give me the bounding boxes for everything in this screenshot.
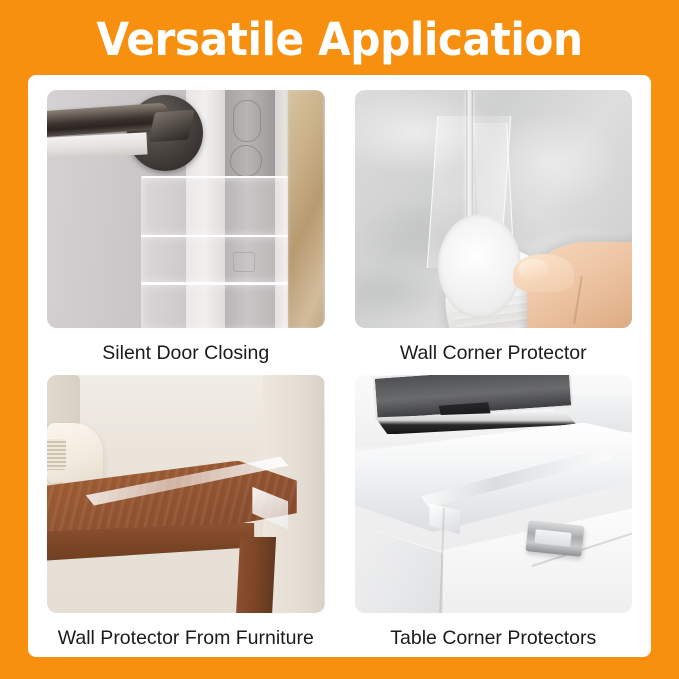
poster: Versatile Application: [0, 0, 679, 679]
content-card: Silent Door Closing: [28, 75, 651, 657]
panel-silent-door-closing: Silent Door Closing: [47, 90, 325, 358]
door-frame-wood: [288, 90, 324, 328]
panel-caption: Wall Corner Protector: [400, 341, 587, 365]
panel-wall-protector-from-furniture: Wall Protector From Furniture: [47, 375, 325, 643]
door-detail-rounded-rect: [233, 100, 261, 142]
panel-caption: Silent Door Closing: [102, 341, 269, 365]
page-title: Versatile Application: [20, 12, 658, 68]
photo-silent-door-closing: [47, 90, 325, 328]
door-detail-circle: [230, 145, 262, 177]
fingernail: [518, 259, 549, 280]
panel-caption: Wall Protector From Furniture: [58, 626, 314, 650]
corner-guard-strip: [141, 283, 288, 328]
door-lever-tip: [149, 110, 195, 143]
tape-roll-core: [438, 214, 521, 319]
corner-guard-strip: [141, 176, 288, 237]
photo-table-corner-protectors: [355, 375, 633, 613]
photo-wall-corner-protector: [355, 90, 633, 328]
appliance-vent: [47, 439, 66, 470]
panel-wall-corner-protector: Wall Corner Protector: [355, 90, 633, 358]
photo-wall-protector-from-furniture: [47, 375, 325, 613]
table-leg: [236, 537, 276, 613]
panel-caption: Table Corner Protectors: [390, 626, 596, 650]
panel-table-corner-protectors: Table Corner Protectors: [355, 375, 633, 643]
corner-guard-strip: [141, 235, 288, 284]
panel-grid: Silent Door Closing: [28, 75, 651, 657]
